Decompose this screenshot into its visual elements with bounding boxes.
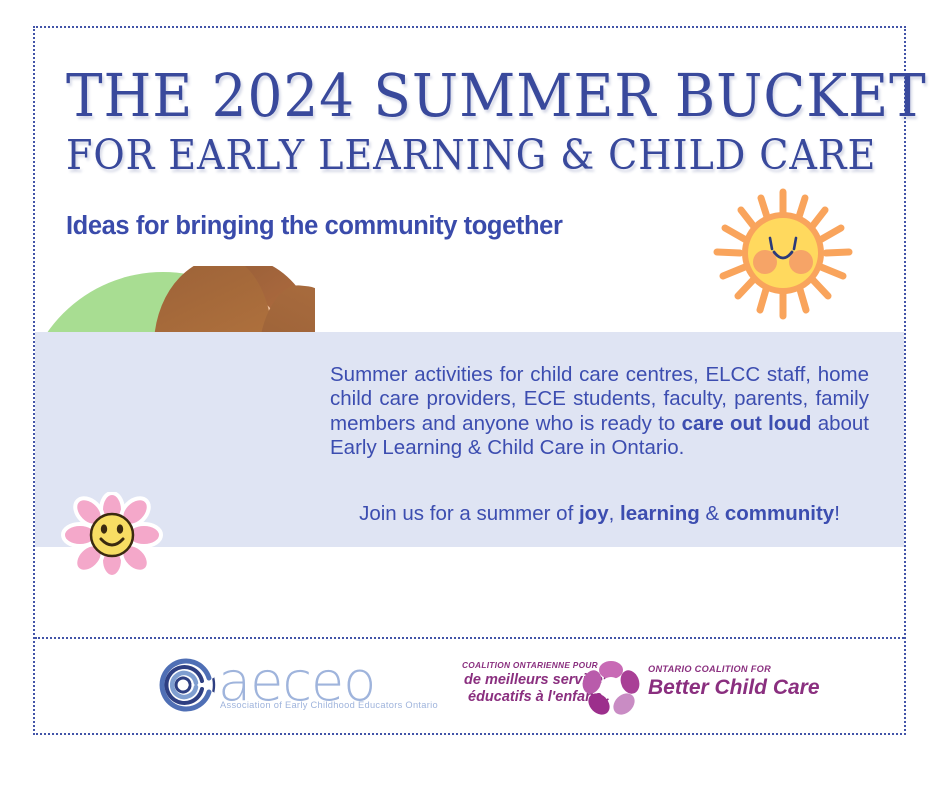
page-title-line-2: FOR EARLY LEARNING & CHILD CARE <box>66 130 773 180</box>
aeceo-spiral-icon <box>152 654 218 716</box>
join-separator-2: & <box>700 502 725 525</box>
intro-emphasis-care-out-loud: care out loud <box>682 412 812 435</box>
join-word-community: community <box>725 502 834 525</box>
poster-canvas: THE 2024 SUMMER BUCKET LIST FOR EARLY LE… <box>0 0 940 788</box>
join-us-line: Join us for a summer of joy, learning & … <box>330 502 869 526</box>
ocbcc-french-eyebrow: COALITION ONTARIENNE POUR <box>462 660 598 670</box>
ocbcc-english-main: Better Child Care <box>648 676 820 700</box>
join-separator-1: , <box>609 502 620 525</box>
join-word-learning: learning <box>620 502 700 525</box>
ocbcc-logo: COALITION ONTARIENNE POUR de meilleurs s… <box>452 658 782 718</box>
aeceo-logo: aeceo Association of Early Childhood Edu… <box>152 654 424 720</box>
flower-icon <box>58 492 166 578</box>
intro-paragraph: Summer activities for child care centres… <box>330 363 869 461</box>
ocbcc-petal-ring-icon <box>580 660 642 716</box>
page-subtitle: Ideas for bringing the community togethe… <box>66 212 562 241</box>
aeceo-tagline: Association of Early Childhood Educators… <box>220 700 438 710</box>
join-suffix: ! <box>834 502 840 525</box>
join-word-joy: joy <box>579 502 609 525</box>
page-title-line-1: THE 2024 SUMMER BUCKET LIST <box>66 66 773 126</box>
footer-divider <box>35 637 904 639</box>
join-prefix: Join us for a summer of <box>359 502 579 525</box>
title-block: THE 2024 SUMMER BUCKET LIST FOR EARLY LE… <box>66 66 826 180</box>
sun-icon <box>706 186 861 321</box>
ocbcc-english-eyebrow: ONTARIO COALITION FOR <box>648 664 771 674</box>
